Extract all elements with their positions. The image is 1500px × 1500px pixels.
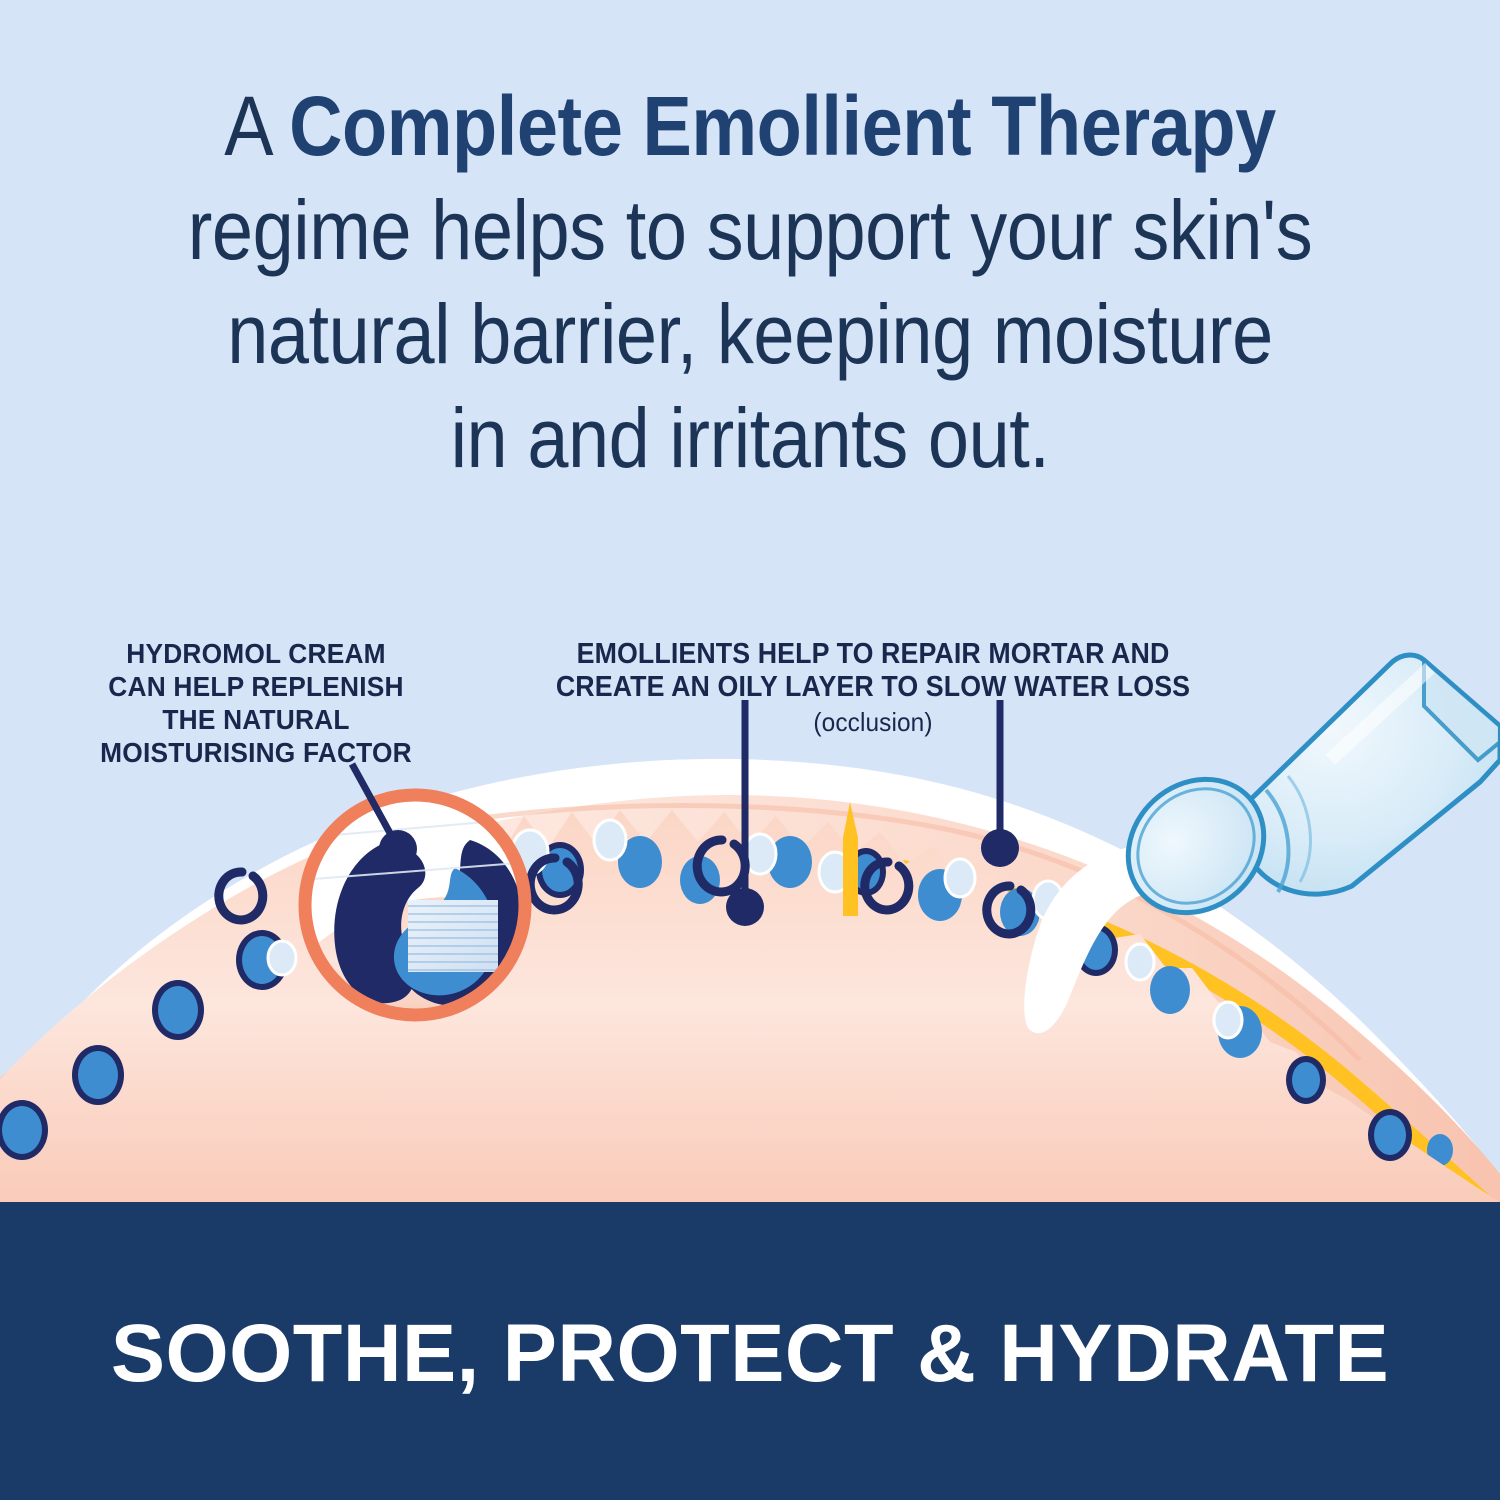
callout-emollients-mortar: EMOLLIENTS HELP TO REPAIR MORTAR AND CRE… [502, 604, 1245, 771]
page-headline: A Complete Emollient Therapy regime help… [90, 74, 1410, 490]
headline-line-1-strong: Complete Emollient Therapy [289, 79, 1276, 173]
headline-line-3: natural barrier, keeping moisture [90, 282, 1410, 386]
callout-hydromol-cream: HYDROMOL CREAM CAN HELP REPLENISH THE NA… [49, 604, 463, 769]
headline-line-1: A Complete Emollient Therapy [90, 74, 1410, 178]
callout-center-text: EMOLLIENTS HELP TO REPAIR MORTAR AND CRE… [556, 638, 1190, 704]
callout-left-text: HYDROMOL CREAM CAN HELP REPLENISH THE NA… [100, 638, 412, 768]
headline-line-4: in and irritants out. [90, 386, 1410, 490]
banner-tagline: SOOTHE, PROTECT & HYDRATE [8, 1307, 1493, 1401]
headline-line-1-plain: A [224, 79, 289, 173]
headline-line-2: regime helps to support your skin's [90, 178, 1410, 282]
callout-center-subtext: (occlusion) [502, 707, 1245, 738]
